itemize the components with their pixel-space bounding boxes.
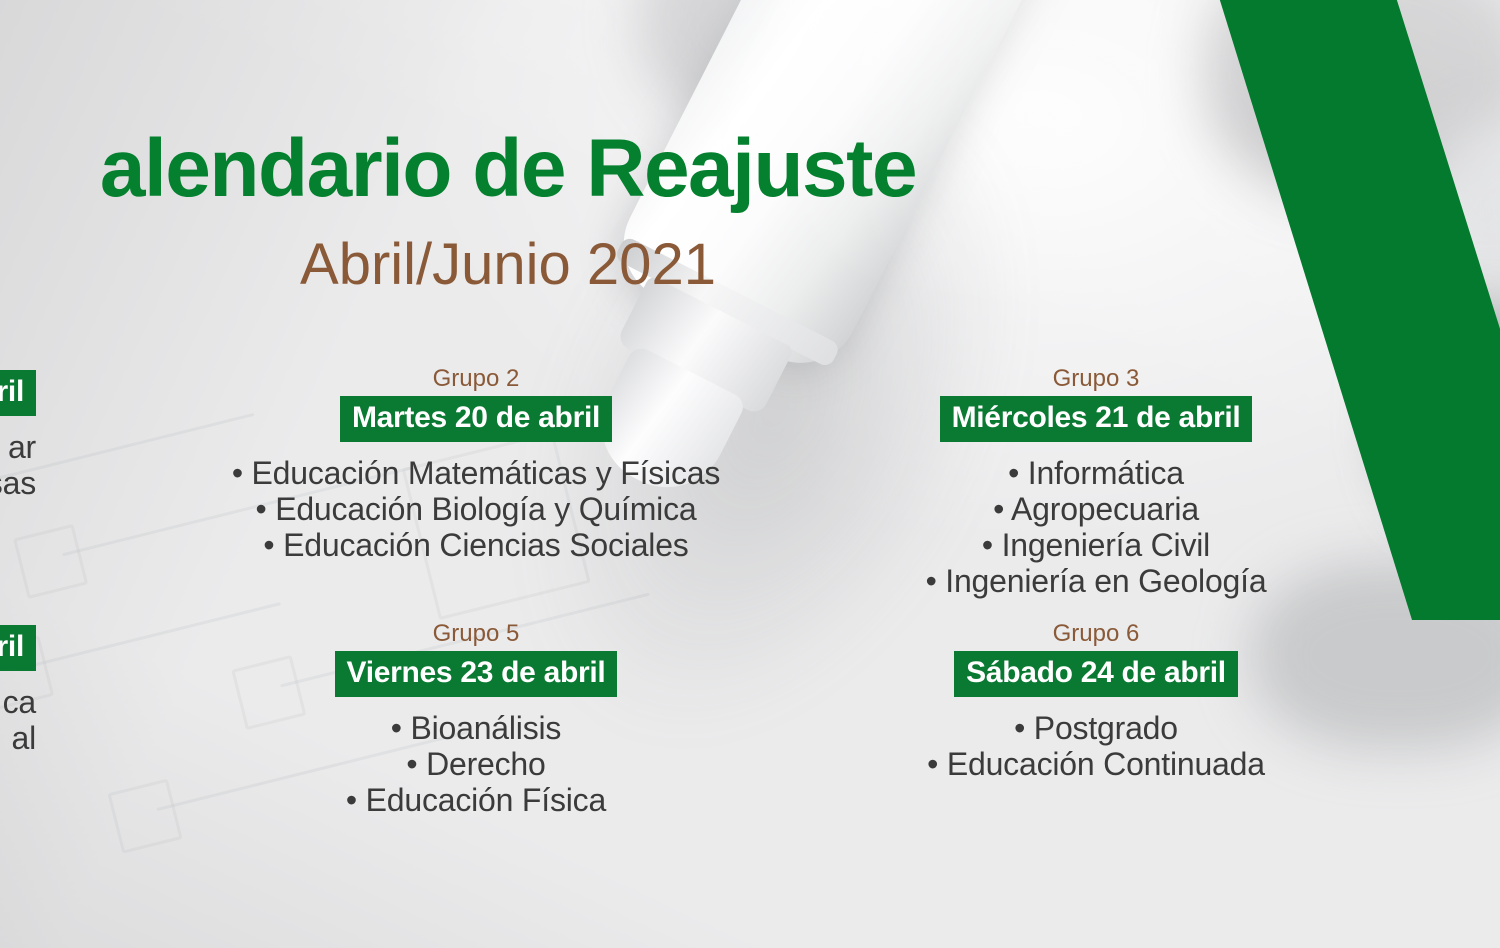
list-item: al <box>0 721 36 757</box>
page-subtitle: Abril/Junio 2021 <box>0 236 1038 294</box>
group-label: Grupo 5 <box>136 621 816 647</box>
group-date-wrap: Miércoles 21 de abril <box>846 396 1346 442</box>
group-block-3: Grupo 3 Miércoles 21 de abril • Informát… <box>846 366 1346 600</box>
group-date-badge: Martes 20 de abril <box>340 396 612 442</box>
group-items: • Educación Matemáticas y Físicas • Educ… <box>136 456 816 563</box>
group-block-5: Grupo 5 Viernes 23 de abril • Bioanálisi… <box>136 621 816 819</box>
group-label: Grupo 2 <box>136 366 816 392</box>
list-item: • Bioanálisis <box>136 711 816 747</box>
page-title: alendario de Reajuste <box>0 128 1038 210</box>
group-date-wrap: ril <box>0 370 36 416</box>
group-items: ca al <box>0 685 36 757</box>
group-block-4: ril ca al <box>0 621 36 757</box>
list-item: • Derecho <box>136 747 816 783</box>
list-item: • Educación Física <box>136 783 816 819</box>
group-date-badge: ril <box>0 370 36 416</box>
list-item: • Educación Continuada <box>846 747 1346 783</box>
list-item: • Educación Matemáticas y Físicas <box>136 456 816 492</box>
group-date-wrap: Martes 20 de abril <box>136 396 816 442</box>
list-item: ca <box>0 685 36 721</box>
list-item: • Agropecuaria <box>846 492 1346 528</box>
group-items: • Bioanálisis • Derecho • Educación Físi… <box>136 711 816 818</box>
group-date-wrap: Viernes 23 de abril <box>136 651 816 697</box>
group-items: ar presas <box>0 430 36 502</box>
group-date-badge: Viernes 23 de abril <box>335 651 618 697</box>
group-label: Grupo 3 <box>846 366 1346 392</box>
poster-canvas: alendario de Reajuste Abril/Junio 2021 r… <box>0 0 1500 948</box>
group-items: • Postgrado • Educación Continuada <box>846 711 1346 783</box>
list-item: ar <box>0 430 36 466</box>
group-date-badge: Miércoles 21 de abril <box>940 396 1253 442</box>
list-item: • Postgrado <box>846 711 1346 747</box>
group-date-badge: Sábado 24 de abril <box>954 651 1238 697</box>
list-item: • Ingeniería en Geología <box>846 564 1346 600</box>
list-item: • Educación Biología y Química <box>136 492 816 528</box>
group-label: Grupo 6 <box>846 621 1346 647</box>
group-block-6: Grupo 6 Sábado 24 de abril • Postgrado •… <box>846 621 1346 783</box>
group-date-badge: ril <box>0 625 36 671</box>
group-date-wrap: Sábado 24 de abril <box>846 651 1346 697</box>
group-block-1: ril ar presas <box>0 366 36 502</box>
list-item: • Educación Ciencias Sociales <box>136 528 816 564</box>
list-item: presas <box>0 466 36 502</box>
group-block-2: Grupo 2 Martes 20 de abril • Educación M… <box>136 366 816 564</box>
group-date-wrap: ril <box>0 625 36 671</box>
list-item: • Informática <box>846 456 1346 492</box>
list-item: • Ingeniería Civil <box>846 528 1346 564</box>
group-items: • Informática • Agropecuaria • Ingenierí… <box>846 456 1346 599</box>
